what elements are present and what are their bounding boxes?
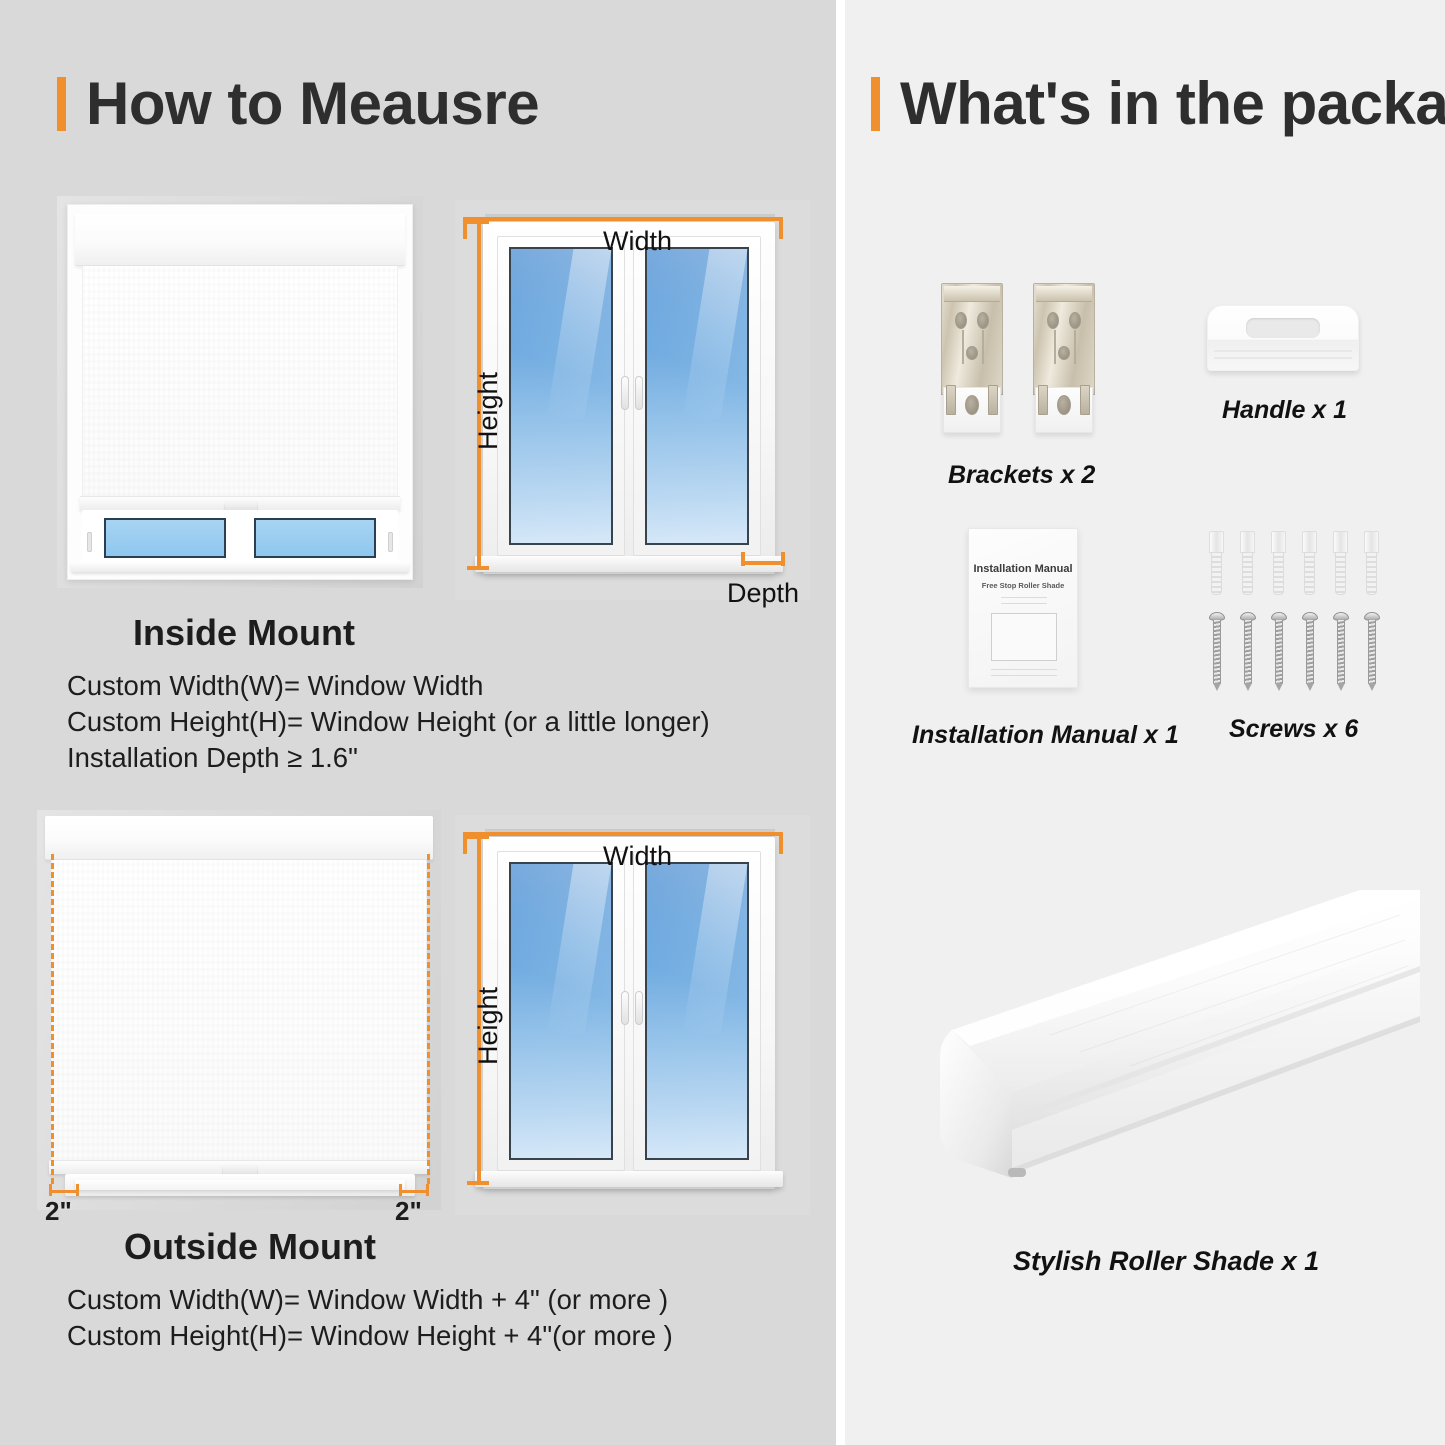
how-to-measure-heading: How to Meausre — [57, 74, 539, 134]
bracket-tab-left-1 — [946, 385, 956, 415]
overhang-guide-left — [51, 854, 54, 1184]
bracket-rib-b2 — [1074, 330, 1076, 364]
manual-rule-4 — [991, 675, 1057, 676]
accent-bar-icon-2 — [871, 77, 880, 131]
inside-mount-title: Inside Mount — [133, 612, 355, 654]
outside-mount-title: Outside Mount — [124, 1226, 376, 1268]
manual-rule-1 — [1001, 597, 1047, 598]
overhang-cap-right-b — [426, 1184, 429, 1196]
overhang-cap-left-b — [76, 1184, 79, 1196]
anchor-body-2 — [1242, 552, 1253, 595]
how-to-measure-heading-text: How to Meausre — [86, 74, 539, 134]
manual-rule-2 — [1001, 603, 1047, 604]
window-pane-left — [104, 518, 226, 558]
inside-mount-line-3: Installation Depth ≥ 1.6" — [67, 740, 710, 776]
bracket-hole-c1 — [966, 346, 978, 360]
height-measure-cap-bottom — [467, 566, 489, 570]
bracket-hole-b1 — [977, 312, 989, 329]
inside-mount-line-1: Custom Width(W)= Window Width — [67, 668, 710, 704]
anchor-body-1 — [1211, 552, 1222, 595]
wall-anchor-1 — [1209, 531, 1224, 595]
bracket-tab-left-2 — [1038, 385, 1048, 415]
manual-cover-title: Installation Manual — [969, 563, 1077, 575]
handle-label: Handle x 1 — [1222, 396, 1347, 425]
panel-divider — [836, 0, 845, 1445]
height-measure-cap-top — [467, 220, 489, 224]
handle-slot — [1246, 318, 1320, 338]
screw-3 — [1271, 612, 1287, 690]
shade-headrail — [75, 214, 405, 266]
outside-mount-text-block: Custom Width(W)= Window Width + 4" (or m… — [67, 1282, 673, 1354]
manual-cover-subtitle: Free Stop Roller Shade — [969, 581, 1077, 590]
overhang-label-left: 2" — [45, 1196, 72, 1227]
overhang-label-right: 2" — [395, 1196, 422, 1227]
anchor-head-1 — [1209, 531, 1224, 553]
anchor-head-6 — [1364, 531, 1379, 553]
manual-rule-3 — [991, 669, 1057, 670]
roller-shade-label: Stylish Roller Shade x 1 — [1013, 1246, 1319, 1277]
bracket-rib-b1 — [982, 330, 984, 364]
screw-shaft-3 — [1275, 620, 1283, 684]
wall-anchor-4 — [1302, 531, 1317, 595]
handle-groove-2 — [1214, 357, 1352, 359]
depth-label: Depth — [727, 578, 799, 609]
anchor-head-5 — [1333, 531, 1348, 553]
diagram-sash-left — [497, 236, 625, 556]
screw-1 — [1209, 612, 1225, 690]
screw-shaft-6 — [1368, 620, 1376, 684]
accent-bar-icon — [57, 77, 66, 131]
diagram-sash-right — [633, 236, 761, 556]
inside-mount-line-2: Custom Height(H)= Window Height (or a li… — [67, 704, 710, 740]
wall-anchor-2 — [1240, 531, 1255, 595]
bracket-top-flange-2 — [1036, 286, 1092, 302]
height-measure-cap-top-2 — [467, 835, 489, 839]
installation-manual-label: Installation Manual x 1 — [912, 721, 1179, 750]
diagram-window-sill — [475, 556, 783, 572]
outside-window-sill-top — [75, 1180, 405, 1190]
window-handle-left-icon — [87, 532, 92, 552]
outside-shade-headrail — [45, 816, 433, 860]
height-label-2: Height — [473, 987, 504, 1065]
outside-mount-line-1: Custom Width(W)= Window Width + 4" (or m… — [67, 1282, 673, 1318]
handle-groove-1 — [1214, 350, 1352, 352]
bracket-rib-a1 — [962, 330, 964, 364]
bracket-body-2 — [1033, 283, 1095, 395]
outside-mount-illustration: 2" 2" — [37, 810, 441, 1210]
screw-tip-3 — [1275, 683, 1283, 691]
outside-shade-fabric — [51, 860, 427, 1160]
window-panes-strip — [82, 510, 398, 566]
anchor-body-4 — [1304, 552, 1315, 595]
screw-tip-6 — [1368, 683, 1376, 691]
window-pane-right — [254, 518, 376, 558]
bracket-item-1 — [941, 283, 1003, 433]
width-measure-cap-right — [779, 217, 783, 239]
anchor-body-3 — [1273, 552, 1284, 595]
bracket-hole-a1 — [955, 312, 967, 329]
anchor-body-5 — [1335, 552, 1346, 595]
bracket-base-hole-2 — [1057, 395, 1071, 415]
screw-tip-1 — [1213, 683, 1221, 691]
bracket-item-2 — [1033, 283, 1095, 433]
screw-2 — [1240, 612, 1256, 690]
screw-tip-4 — [1306, 683, 1314, 691]
bracket-tab-right-1 — [988, 385, 998, 415]
overhang-cap-left-a — [49, 1184, 52, 1196]
installation-manual-item: Installation Manual Free Stop Roller Sha… — [968, 528, 1078, 688]
wall-anchor-3 — [1271, 531, 1286, 595]
bracket-hole-c2 — [1058, 346, 1070, 360]
depth-measure-cap-left — [741, 552, 745, 566]
height-measure-cap-bottom-2 — [467, 1181, 489, 1185]
screw-shaft-4 — [1306, 620, 1314, 684]
bracket-tab-right-2 — [1080, 385, 1090, 415]
roller-shade-pin-icon — [1008, 1168, 1026, 1177]
depth-measure-line — [741, 561, 785, 565]
outside-mount-line-2: Custom Height(H)= Window Height + 4"(or … — [67, 1318, 673, 1354]
anchor-head-2 — [1240, 531, 1255, 553]
screw-tip-2 — [1244, 683, 1252, 691]
outside-mount-dimension-diagram: Width Height — [455, 815, 810, 1215]
wall-anchor-5 — [1333, 531, 1348, 595]
width-label-2: Width — [603, 841, 672, 872]
package-contents-heading-text: What's in the package — [900, 74, 1445, 134]
screw-5 — [1333, 612, 1349, 690]
screw-shaft-5 — [1337, 620, 1345, 684]
diagram-handle-right-icon — [635, 376, 643, 410]
anchor-body-6 — [1366, 552, 1377, 595]
package-contents-heading: What's in the package — [871, 74, 1445, 134]
screws-label: Screws x 6 — [1229, 715, 1358, 744]
inside-mount-dimension-diagram: Width Height Depth — [455, 200, 810, 600]
screw-shaft-2 — [1244, 620, 1252, 684]
overhang-measure-left — [49, 1190, 79, 1193]
depth-measure-cap-right — [781, 552, 785, 566]
bracket-hole-a2 — [1047, 312, 1059, 329]
handle-item — [1207, 305, 1359, 371]
anchor-head-3 — [1271, 531, 1286, 553]
overhang-measure-right — [399, 1190, 429, 1193]
diagram-sash-left-2 — [497, 851, 625, 1171]
inside-mount-text-block: Custom Width(W)= Window Width Custom Hei… — [67, 668, 710, 776]
overhang-guide-right — [427, 854, 430, 1184]
inside-mount-illustration — [57, 196, 423, 588]
width-measure-cap-right-2 — [779, 832, 783, 854]
bracket-top-flange-1 — [944, 286, 1000, 302]
diagram-sash-right-2 — [633, 851, 761, 1171]
manual-illustration-box — [991, 613, 1057, 661]
bracket-body-1 — [941, 283, 1003, 395]
screw-tip-5 — [1337, 683, 1345, 691]
overhang-cap-right-a — [399, 1184, 402, 1196]
wall-anchor-6 — [1364, 531, 1379, 595]
window-handle-right-icon — [388, 532, 393, 552]
diagram-window-sill-2 — [475, 1171, 783, 1187]
bracket-base-hole-1 — [965, 395, 979, 415]
diagram-handle-left-icon-2 — [621, 991, 629, 1025]
width-label: Width — [603, 226, 672, 257]
window-sill — [71, 562, 409, 572]
width-measure-line — [463, 217, 783, 221]
screw-6 — [1364, 612, 1380, 690]
screw-4 — [1302, 612, 1318, 690]
diagram-handle-right-icon-2 — [635, 991, 643, 1025]
diagram-handle-left-icon — [621, 376, 629, 410]
shade-fabric — [82, 266, 398, 496]
anchor-head-4 — [1302, 531, 1317, 553]
width-measure-line-2 — [463, 832, 783, 836]
bracket-hole-b2 — [1069, 312, 1081, 329]
screw-shaft-1 — [1213, 620, 1221, 684]
brackets-label: Brackets x 2 — [948, 461, 1095, 490]
height-label: Height — [473, 372, 504, 450]
bracket-rib-a2 — [1054, 330, 1056, 364]
roller-shade-product-image — [900, 880, 1420, 1210]
